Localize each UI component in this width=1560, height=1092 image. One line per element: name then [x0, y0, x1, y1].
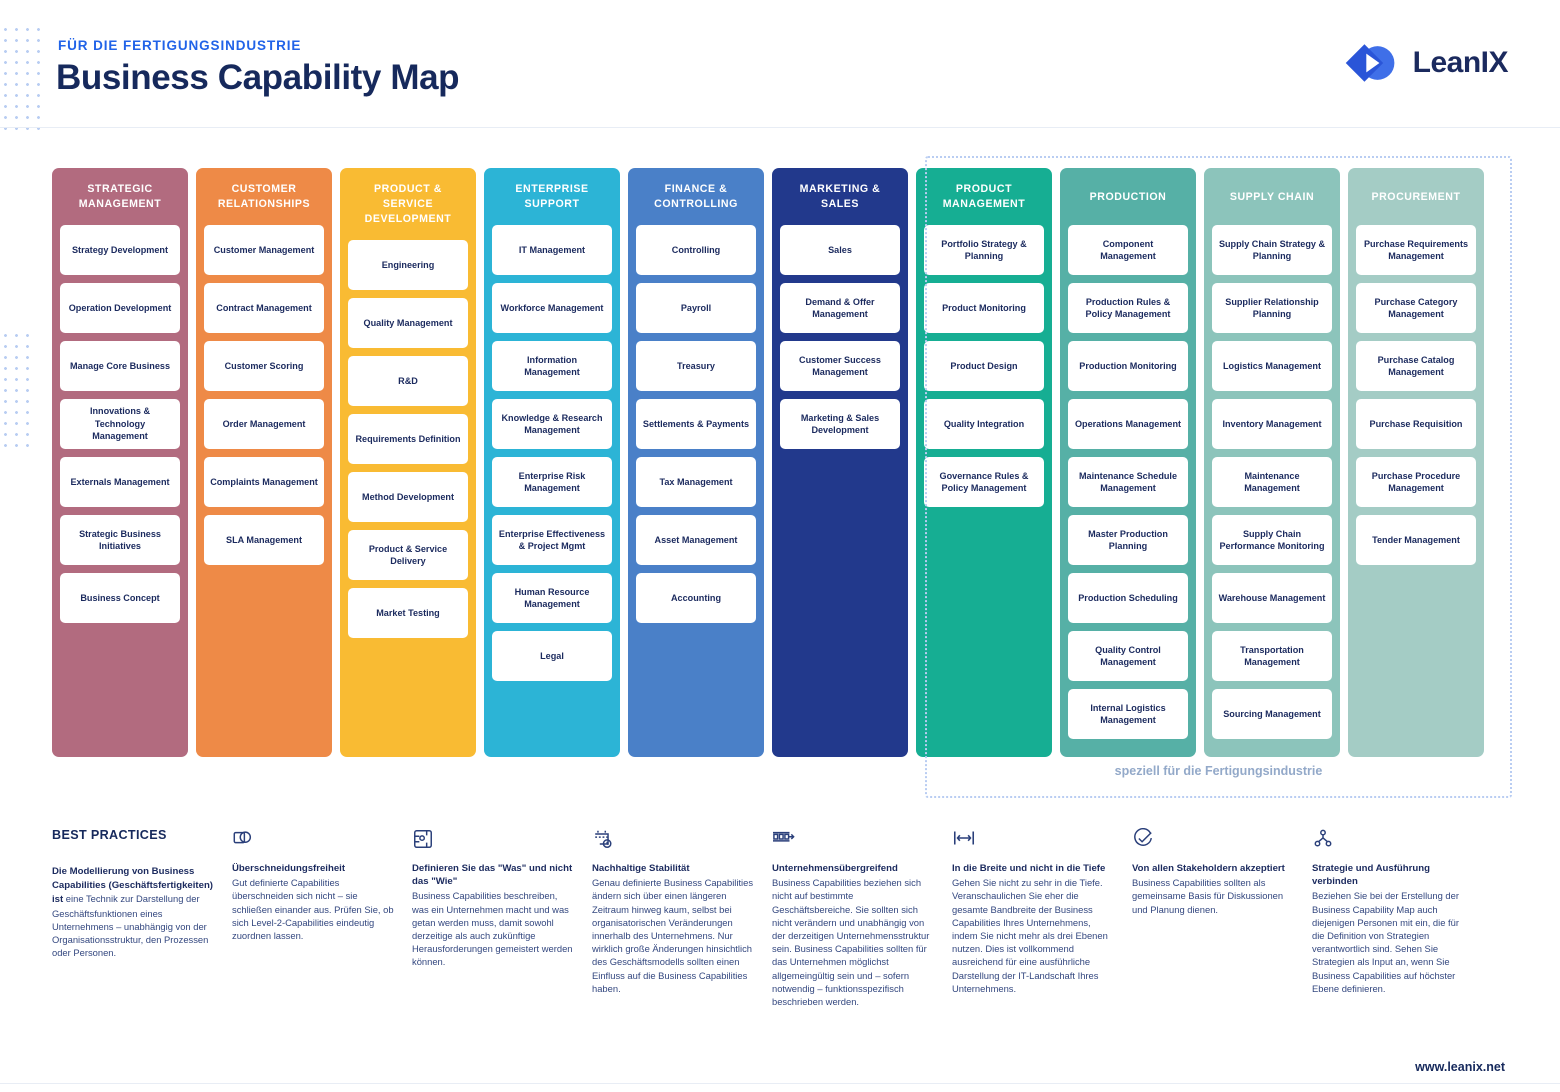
capability-card[interactable]: Controlling — [636, 225, 756, 275]
capability-columns: STRATEGIC MANAGEMENTStrategy Development… — [52, 168, 1484, 757]
capability-card[interactable]: Marketing & Sales Development — [780, 399, 900, 449]
best-practice-title: In die Breite und nicht in die Tiefe — [952, 862, 1114, 875]
capability-card[interactable]: Treasury — [636, 341, 756, 391]
capability-card[interactable]: Purchase Procedure Management — [1356, 457, 1476, 507]
website-link[interactable]: www.leanix.net — [1415, 1060, 1505, 1074]
best-practice-title: Überschneidungsfreiheit — [232, 862, 394, 875]
capability-card[interactable]: Production Scheduling — [1068, 573, 1188, 623]
capability-card[interactable]: Information Management — [492, 341, 612, 391]
network-nodes-icon — [1312, 828, 1474, 854]
best-practices-intro-rest: eine Technik zur Darstellung der Geschäf… — [52, 893, 208, 958]
leanix-logo: LeanIX — [1342, 40, 1508, 86]
capability-card[interactable]: Sales — [780, 225, 900, 275]
best-practice-item: Von allen Stakeholdern akzeptiertBusines… — [1132, 828, 1312, 1008]
capability-card[interactable]: Logistics Management — [1212, 341, 1332, 391]
capability-card[interactable]: IT Management — [492, 225, 612, 275]
leanix-logo-mark — [1342, 40, 1400, 86]
best-practice-title: Nachhaltige Stabilität — [592, 862, 754, 875]
capability-card[interactable]: Enterprise Effectiveness & Project Mgmt — [492, 515, 612, 565]
capability-card[interactable]: Production Monitoring — [1068, 341, 1188, 391]
best-practice-body: Gehen Sie nicht zu sehr in die Tiefe. Ve… — [952, 876, 1114, 995]
capability-card[interactable]: Customer Management — [204, 225, 324, 275]
capability-card[interactable]: Asset Management — [636, 515, 756, 565]
column-header-product-service-development: PRODUCT & SERVICE DEVELOPMENT — [348, 182, 468, 227]
best-practice-body: Genau definierte Business Capabilities ä… — [592, 876, 754, 995]
capability-card[interactable]: Quality Control Management — [1068, 631, 1188, 681]
footer-divider — [0, 1083, 1560, 1084]
capability-card[interactable]: Settlements & Payments — [636, 399, 756, 449]
leanix-logo-text: LeanIX — [1413, 46, 1508, 80]
capability-card[interactable]: Product Design — [924, 341, 1044, 391]
decorative-dot-grid-midleft — [0, 330, 30, 450]
overlap-shapes-icon — [232, 828, 394, 854]
capability-card[interactable]: Product Monitoring — [924, 283, 1044, 333]
capability-card[interactable]: Customer Success Management — [780, 341, 900, 391]
capability-card[interactable]: Knowledge & Research Management — [492, 399, 612, 449]
best-practice-body: Beziehen Sie bei der Erstellung der Busi… — [1312, 889, 1474, 995]
capability-card[interactable]: Quality Integration — [924, 399, 1044, 449]
capability-card[interactable]: Demand & Offer Management — [780, 283, 900, 333]
best-practice-body: Business Capabilities beziehen sich nich… — [772, 876, 934, 1008]
width-arrow-icon — [952, 828, 1114, 854]
capability-card[interactable]: Business Concept — [60, 573, 180, 623]
best-practice-title: Strategie und Ausführung verbinden — [1312, 862, 1474, 888]
capability-card[interactable]: Supply Chain Strategy & Planning — [1212, 225, 1332, 275]
capability-card[interactable]: Maintenance Schedule Management — [1068, 457, 1188, 507]
capability-column-customer-relationships: CUSTOMER RELATIONSHIPSCustomer Managemen… — [196, 168, 332, 757]
capability-card[interactable]: Maintenance Management — [1212, 457, 1332, 507]
capability-card[interactable]: Governance Rules & Policy Management — [924, 457, 1044, 507]
capability-column-production: PRODUCTIONComponent ManagementProduction… — [1060, 168, 1196, 757]
best-practice-item: Strategie und Ausführung verbindenBezieh… — [1312, 828, 1492, 1008]
capability-card[interactable]: Quality Management — [348, 298, 468, 348]
capability-card[interactable]: Contract Management — [204, 283, 324, 333]
capability-card[interactable]: Customer Scoring — [204, 341, 324, 391]
capability-column-supply-chain: SUPPLY CHAINSupply Chain Strategy & Plan… — [1204, 168, 1340, 757]
capability-card[interactable]: Accounting — [636, 573, 756, 623]
best-practice-item: UnternehmensübergreifendBusiness Capabil… — [772, 828, 952, 1008]
capability-card[interactable]: Human Resource Management — [492, 573, 612, 623]
capability-card[interactable]: Operation Development — [60, 283, 180, 333]
capability-card[interactable]: Transportation Management — [1212, 631, 1332, 681]
capability-column-product-management: PRODUCT MANAGEMENTPortfolio Strategy & P… — [916, 168, 1052, 757]
capability-card[interactable]: Production Rules & Policy Management — [1068, 283, 1188, 333]
capability-card[interactable]: Supplier Relationship Planning — [1212, 283, 1332, 333]
capability-card[interactable]: Method Development — [348, 472, 468, 522]
capability-card[interactable]: Product & Service Delivery — [348, 530, 468, 580]
best-practices-heading: BEST PRACTICES — [52, 828, 214, 854]
capability-card[interactable]: Strategic Business Initiatives — [60, 515, 180, 565]
business-capability-map-page: FÜR DIE FERTIGUNGSINDUSTRIE Business Cap… — [0, 0, 1560, 1092]
column-header-procurement: PROCUREMENT — [1356, 182, 1476, 212]
capability-card[interactable]: SLA Management — [204, 515, 324, 565]
capability-column-finance-controlling: FINANCE & CONTROLLINGControllingPayrollT… — [628, 168, 764, 757]
capability-card[interactable]: Innovations & Technology Management — [60, 399, 180, 449]
capability-card[interactable]: Engineering — [348, 240, 468, 290]
header-divider — [0, 127, 1560, 128]
capability-card[interactable]: Tender Management — [1356, 515, 1476, 565]
capability-card[interactable]: Legal — [492, 631, 612, 681]
capability-card[interactable]: Enterprise Risk Management — [492, 457, 612, 507]
column-header-supply-chain: SUPPLY CHAIN — [1212, 182, 1332, 212]
capability-column-product-service-development: PRODUCT & SERVICE DEVELOPMENTEngineering… — [340, 168, 476, 757]
column-header-marketing-sales: MARKETING & SALES — [780, 182, 900, 212]
capability-card[interactable]: Supply Chain Performance Monitoring — [1212, 515, 1332, 565]
capability-card[interactable]: Market Testing — [348, 588, 468, 638]
best-practice-body: Business Capabilities beschreiben, was e… — [412, 889, 574, 968]
best-practice-item: Nachhaltige StabilitätGenau definierte B… — [592, 828, 772, 1008]
capability-card[interactable]: Tax Management — [636, 457, 756, 507]
capability-card[interactable]: Order Management — [204, 399, 324, 449]
page-title: Business Capability Map — [56, 58, 459, 98]
best-practice-title: Unternehmensübergreifend — [772, 862, 934, 875]
best-practice-item: Definieren Sie das "Was" und nicht das "… — [412, 828, 592, 1008]
capability-card[interactable]: Purchase Category Management — [1356, 283, 1476, 333]
capability-card[interactable]: Master Production Planning — [1068, 515, 1188, 565]
capability-card[interactable]: Complaints Management — [204, 457, 324, 507]
capability-card[interactable]: Purchase Requirements Management — [1356, 225, 1476, 275]
column-header-enterprise-support: ENTERPRISE SUPPORT — [492, 182, 612, 212]
capability-card[interactable]: Inventory Management — [1212, 399, 1332, 449]
capability-card[interactable]: Requirements Definition — [348, 414, 468, 464]
capability-card[interactable]: Portfolio Strategy & Planning — [924, 225, 1044, 275]
best-practice-title: Von allen Stakeholdern akzeptiert — [1132, 862, 1294, 875]
capability-column-procurement: PROCUREMENTPurchase Requirements Managem… — [1348, 168, 1484, 757]
column-header-finance-controlling: FINANCE & CONTROLLING — [636, 182, 756, 212]
best-practice-item: ÜberschneidungsfreiheitGut definierte Ca… — [232, 828, 412, 1008]
best-practices-section: BEST PRACTICESDie Modellierung von Busin… — [52, 828, 1512, 1008]
column-header-production: PRODUCTION — [1068, 182, 1188, 212]
capability-card[interactable]: Internal Logistics Management — [1068, 689, 1188, 739]
capability-card[interactable]: Sourcing Management — [1212, 689, 1332, 739]
manufacturing-region-label: speziell für die Fertigungsindustrie — [925, 764, 1512, 778]
capability-column-enterprise-support: ENTERPRISE SUPPORTIT ManagementWorkforce… — [484, 168, 620, 757]
capability-card[interactable]: Operations Management — [1068, 399, 1188, 449]
buildings-arrow-icon — [772, 828, 934, 854]
capability-card[interactable]: Workforce Management — [492, 283, 612, 333]
best-practice-body: Business Capabilities sollten als gemein… — [1132, 876, 1294, 916]
capability-column-strategic-management: STRATEGIC MANAGEMENTStrategy Development… — [52, 168, 188, 757]
capability-card[interactable]: Component Management — [1068, 225, 1188, 275]
capability-card[interactable]: Payroll — [636, 283, 756, 333]
best-practice-title: Definieren Sie das "Was" und nicht das "… — [412, 862, 574, 888]
capability-card[interactable]: Externals Management — [60, 457, 180, 507]
capability-card[interactable]: Purchase Requisition — [1356, 399, 1476, 449]
capability-card[interactable]: Strategy Development — [60, 225, 180, 275]
calendar-clock-icon — [592, 828, 754, 854]
column-header-customer-relationships: CUSTOMER RELATIONSHIPS — [204, 182, 324, 212]
best-practice-body: Gut definierte Capabilities überschneide… — [232, 876, 394, 942]
puzzle-icon — [412, 828, 574, 854]
check-circle-icon — [1132, 828, 1294, 854]
capability-card[interactable]: R&D — [348, 356, 468, 406]
capability-card[interactable]: Warehouse Management — [1212, 573, 1332, 623]
capability-card[interactable]: Purchase Catalog Management — [1356, 341, 1476, 391]
capability-card[interactable]: Manage Core Business — [60, 341, 180, 391]
capability-column-marketing-sales: MARKETING & SALESSalesDemand & Offer Man… — [772, 168, 908, 757]
column-header-strategic-management: STRATEGIC MANAGEMENT — [60, 182, 180, 212]
best-practice-item: In die Breite und nicht in die TiefeGehe… — [952, 828, 1132, 1008]
page-header: FÜR DIE FERTIGUNGSINDUSTRIE Business Cap… — [0, 0, 1560, 128]
header-eyebrow: FÜR DIE FERTIGUNGSINDUSTRIE — [58, 38, 301, 53]
best-practices-intro: BEST PRACTICESDie Modellierung von Busin… — [52, 828, 232, 1008]
column-header-product-management: PRODUCT MANAGEMENT — [924, 182, 1044, 212]
